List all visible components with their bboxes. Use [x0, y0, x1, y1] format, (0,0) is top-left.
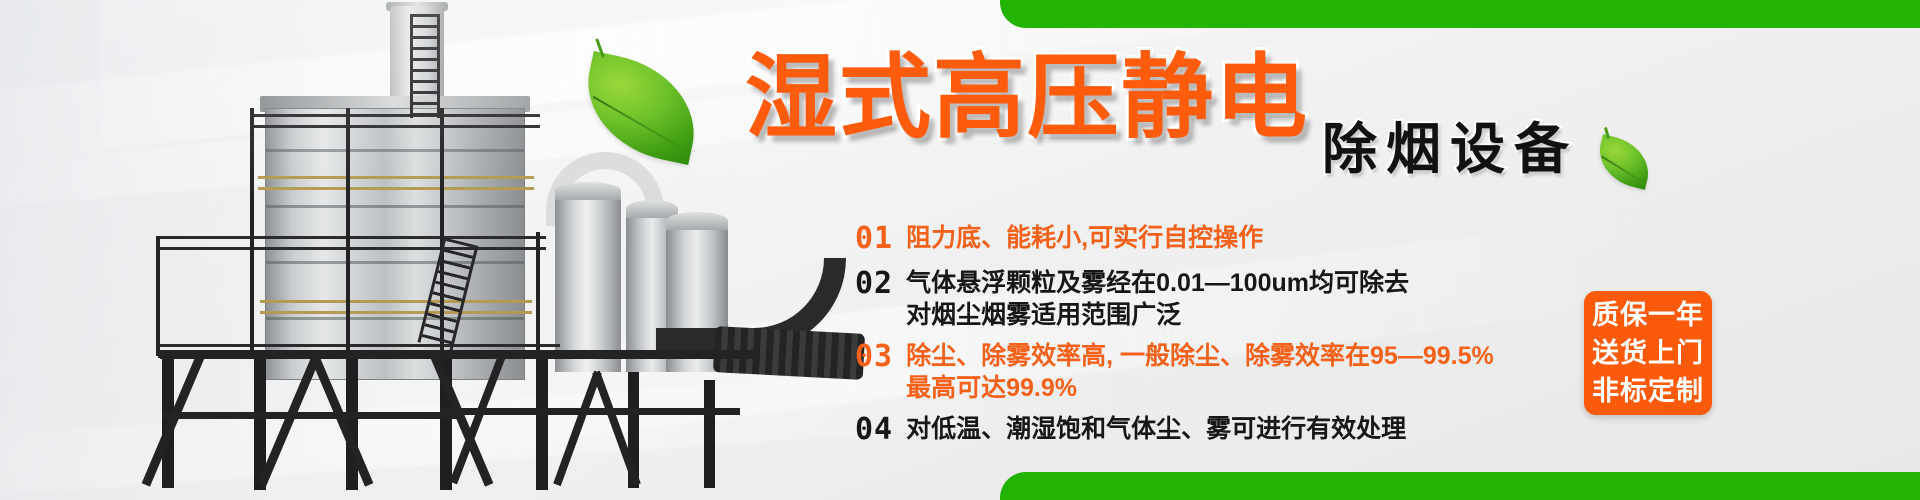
walkway-railing — [258, 176, 534, 190]
leaf-icon — [1592, 134, 1655, 190]
walkway-railing — [250, 114, 540, 128]
feature-number: 03 — [855, 340, 893, 375]
vessel-a — [555, 196, 621, 372]
badge-line-warranty: 质保一年 — [1592, 296, 1704, 334]
list-item: 04 对低温、潮湿饱和气体尘、雾可进行有效处理 — [855, 413, 1494, 448]
badge-line-custom: 非标定制 — [1592, 372, 1704, 410]
feature-text: 阻力底、能耗小,可实行自控操作 — [906, 222, 1263, 254]
green-accent-bar-bottom — [1000, 472, 1920, 500]
page-title: 湿式高压静电 — [745, 52, 1309, 144]
walkway-railing — [260, 300, 532, 314]
feature-text: 对低温、潮湿饱和气体尘、雾可进行有效处理 — [906, 413, 1406, 445]
service-guarantee-badge[interactable]: 质保一年 送货上门 非标定制 — [1584, 291, 1712, 415]
feature-text: 气体悬浮颗粒及雾经在0.01—100um均可除去 对烟尘烟雾适用范围广泛 — [906, 267, 1409, 331]
walkway-railing — [156, 236, 546, 250]
headline-wrapper: 湿式高压静电 — [745, 52, 1309, 144]
feature-list: 01 阻力底、能耗小,可实行自控操作 02 气体悬浮颗粒及雾经在0.01—100… — [855, 222, 1494, 454]
feature-text: 除尘、除雾效率高, 一般除尘、除雾效率在95—99.5% 最高可达99.9% — [906, 340, 1494, 404]
promo-banner: 湿式高压静电 除烟设备 01 阻力底、能耗小,可实行自控操作 02 气体悬浮颗粒… — [0, 0, 1920, 500]
green-accent-bar-top — [1000, 0, 1920, 28]
feature-number: 01 — [855, 222, 893, 257]
access-ladder — [410, 14, 440, 118]
feature-number: 02 — [855, 267, 893, 302]
feature-number: 04 — [855, 413, 893, 448]
list-item: 01 阻力底、能耗小,可实行自控操作 — [855, 222, 1494, 257]
list-item: 02 气体悬浮颗粒及雾经在0.01—100um均可除去 对烟尘烟雾适用范围广泛 — [855, 267, 1494, 331]
list-item: 03 除尘、除雾效率高, 一般除尘、除雾效率在95—99.5% 最高可达99.9… — [855, 340, 1494, 404]
page-subtitle: 除烟设备 — [1322, 122, 1578, 177]
badge-line-delivery: 送货上门 — [1592, 334, 1704, 372]
